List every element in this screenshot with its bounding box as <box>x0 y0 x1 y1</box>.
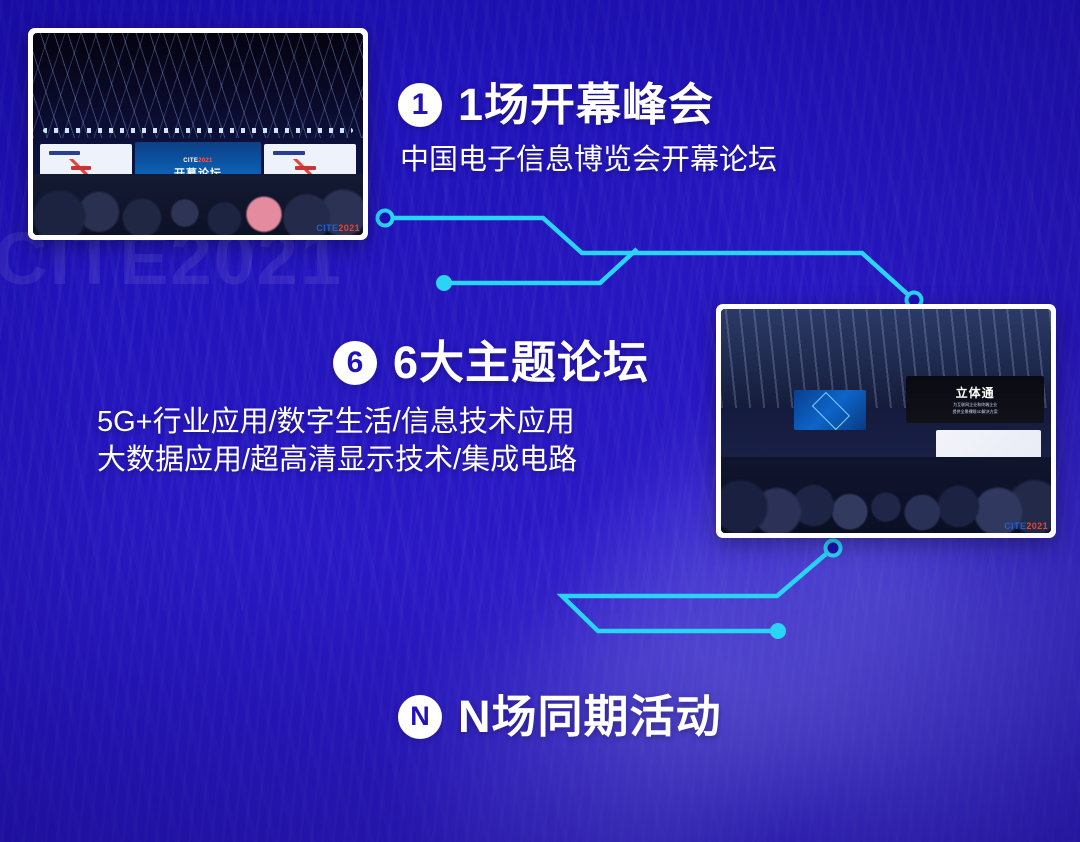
opening-forum-photo: CITE2021 开幕论坛 OPENING FORUM CITE2021 <box>28 28 368 240</box>
booth-brand-name: 立体通 <box>956 384 995 401</box>
photo-watermark-booth: CITE2021 <box>1004 521 1048 531</box>
section-title-opening: 1场开幕峰会 <box>458 82 714 127</box>
photo-watermark-opening: CITE2021 <box>316 223 360 233</box>
section-subtitle-forums-line1: 5G+行业应用/数字生活/信息技术应用 <box>97 403 649 441</box>
promo-poster: CITE2021 CITE2021 CITE2021 <box>0 0 1080 842</box>
badge-number-6: 6 <box>333 341 377 385</box>
stage-light-beams-secondary <box>33 33 363 138</box>
badge-letter-n: N <box>398 695 442 739</box>
section-title-forums: 6大主题论坛 <box>393 340 649 385</box>
screen-year: 2021 <box>198 158 213 164</box>
badge-number-1: 1 <box>398 83 442 127</box>
section-theme-forums: 6 6大主题论坛 5G+行业应用/数字生活/信息技术应用 大数据应用/超高清显示… <box>333 340 649 480</box>
section-subtitle-opening: 中国电子信息博览会开幕论坛 <box>400 141 777 179</box>
truss-lights <box>43 128 353 133</box>
audience-seating <box>33 174 363 235</box>
section-concurrent-activities: N N场同期活动 <box>398 694 722 739</box>
section-opening-summit: 1 1场开幕峰会 中国电子信息博览会开幕论坛 <box>398 82 777 179</box>
booth-brand-banner: 立体通 为互联网企业和终端企业 提供全景裸眼3D解决方案 <box>906 376 1045 423</box>
screen-cite-label: CITE <box>183 158 198 164</box>
exhibition-booth-photo: 立体通 为互联网企业和终端企业 提供全景裸眼3D解决方案 3D CITE2021 <box>716 304 1056 538</box>
section-subtitle-forums-line2: 大数据应用/超高清显示技术/集成电路 <box>97 441 649 479</box>
booth-brand-tagline-1: 为互联网企业和终端企业 <box>953 402 997 408</box>
section-title-activities: N场同期活动 <box>458 694 722 739</box>
booth-visitors <box>721 457 1051 533</box>
booth-brand-tagline-2: 提供全景裸眼3D解决方案 <box>953 409 998 415</box>
booth-led-screen <box>794 390 867 430</box>
